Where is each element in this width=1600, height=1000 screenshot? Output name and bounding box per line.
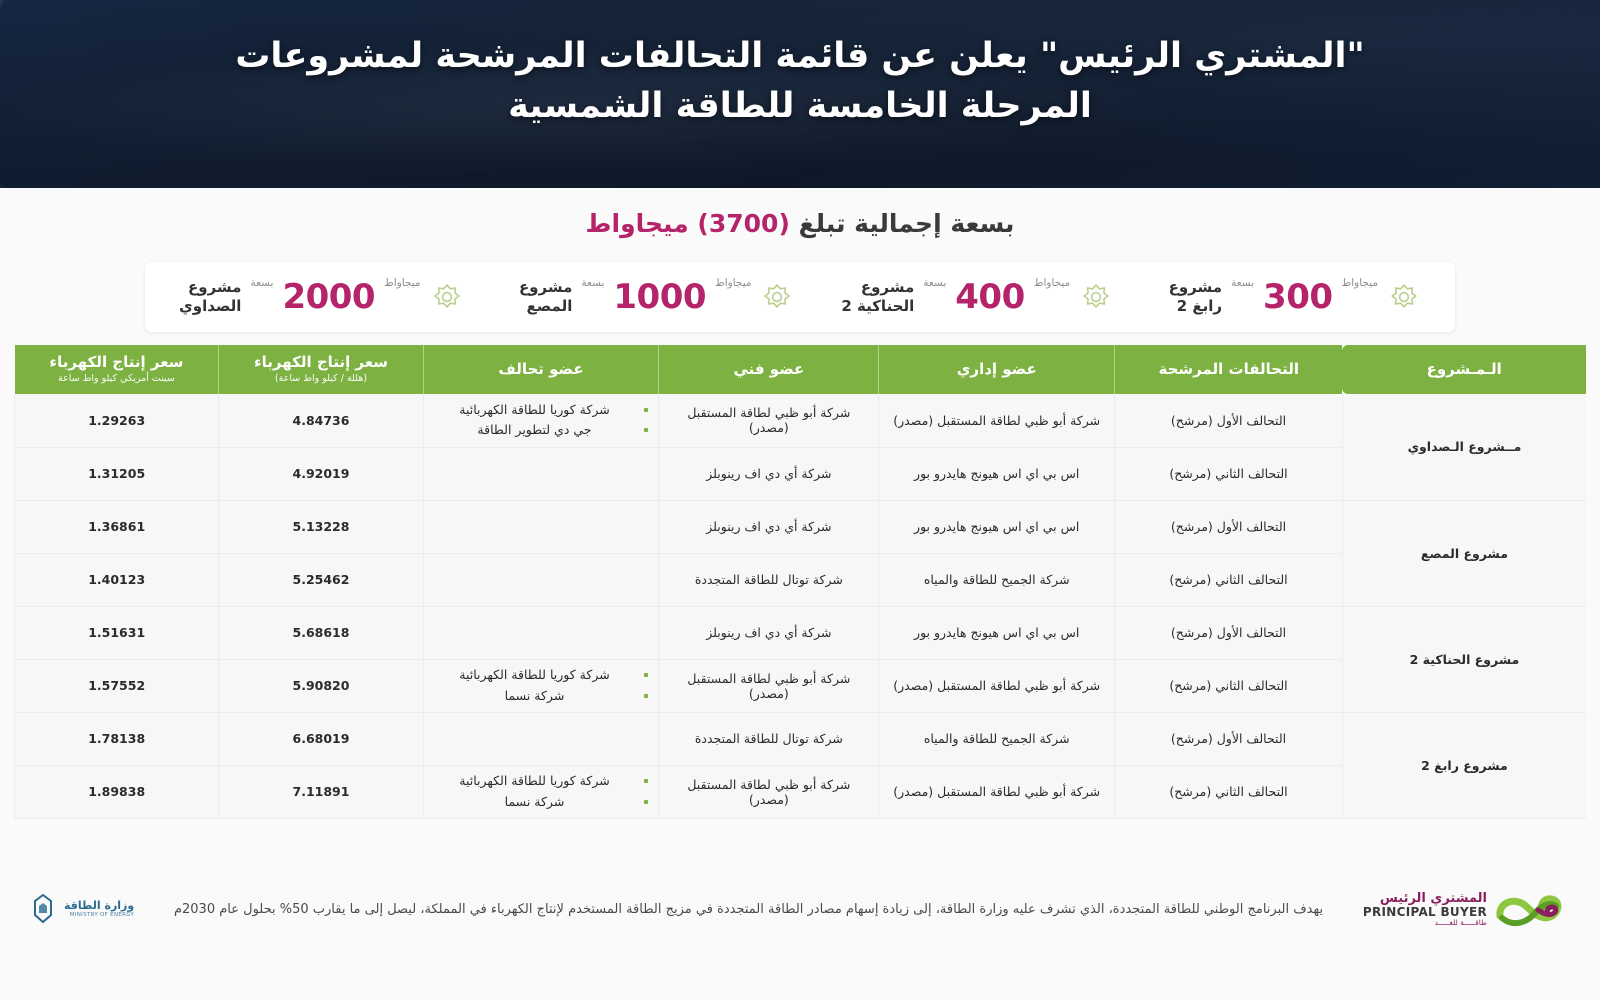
col-header-project: الـمـشروع xyxy=(1342,345,1586,394)
ministry-emblem-icon xyxy=(28,893,58,925)
pb-tagline: طاقـــــة للغـــــد xyxy=(1363,919,1487,927)
cell-price_usc: 1.29263 xyxy=(15,394,219,447)
capacity-value: 1000 xyxy=(613,280,706,314)
capacity-prefix: بسعة xyxy=(1231,278,1254,289)
cell-alliance: التحالف الأول (مرشح) xyxy=(1115,712,1343,765)
subtitle-area: بسعة إجمالية تبلغ (3700) ميجاواط xyxy=(0,188,1600,248)
capacity-unit: ميجاواط xyxy=(1034,278,1070,289)
cell-price_usc: 1.57552 xyxy=(15,659,219,712)
col-header-admin: عضو إداري xyxy=(879,345,1115,394)
cell-price_usc: 1.40123 xyxy=(15,553,219,606)
pb-arabic-name: المشتري الرئيس xyxy=(1363,892,1487,906)
cell-members: شركة كوريا للطاقة الكهربائيةشركة نسما xyxy=(423,659,659,712)
capacity-cards-bar: ميجاواط 300 بسعة مشروع رابغ 2 ميجاواط 40… xyxy=(145,262,1455,332)
capacity-project-name: مشروع رابغ 2 xyxy=(1160,278,1222,316)
cell-tech: شركة توتال للطاقة المتجددة xyxy=(659,712,879,765)
cell-price_usc: 1.78138 xyxy=(15,712,219,765)
project-name-cell: مــشروع الـصداوي xyxy=(1342,394,1586,500)
cell-admin: شركة الجميح للطاقة والمياه xyxy=(879,553,1115,606)
capacity-unit-labels: ميجاواط xyxy=(1342,277,1378,317)
cell-members xyxy=(423,500,659,553)
cell-alliance: التحالف الأول (مرشح) xyxy=(1115,394,1343,447)
cell-alliance: التحالف الأول (مرشح) xyxy=(1115,500,1343,553)
table-header-row: الـمـشروعالتحالفات المرشحةعضو إداريعضو ف… xyxy=(15,345,1587,394)
project-name-cell: مشروع المصع xyxy=(1342,500,1586,606)
capacity-number-group: 2000 xyxy=(282,280,375,314)
cell-members xyxy=(423,712,659,765)
col-title: عضو تحالف xyxy=(498,360,583,378)
capacity-prefix-label: بسعة xyxy=(250,277,273,317)
principal-buyer-mark-icon xyxy=(1494,886,1572,932)
col-header-price_hal: سعر إنتاج الكهرباء(هللة / كيلو واط ساعة) xyxy=(219,345,423,394)
sun-flower-icon xyxy=(430,280,464,314)
capacity-value: 400 xyxy=(955,280,1024,314)
capacity-prefix-label: بسعة xyxy=(581,277,604,317)
cell-tech: شركة أي دي اف رينوبلز xyxy=(659,500,879,553)
cell-members: شركة كوريا للطاقة الكهربائيةجي دي لتطوير… xyxy=(423,394,659,447)
cell-members xyxy=(423,447,659,500)
cell-price_hal: 7.11891 xyxy=(219,765,423,818)
project-name-cell: مشروع الحناكية 2 xyxy=(1342,606,1586,712)
capacity-prefix-label: بسعة xyxy=(923,277,946,317)
footer-description: يهدف البرنامج الوطني للطاقة المتجددة، ال… xyxy=(134,900,1363,920)
member-item: شركة نسما xyxy=(432,686,651,707)
footer: المشتري الرئيس PRINCIPAL BUYER طاقـــــة… xyxy=(0,819,1600,1000)
capacity-unit: ميجاواط xyxy=(384,278,420,289)
capacity-card-2: ميجاواط 400 بسعة مشروع الحناكية 2 xyxy=(841,262,1113,332)
member-item: شركة كوريا للطاقة الكهربائية xyxy=(432,771,651,792)
member-list: شركة كوريا للطاقة الكهربائيةجي دي لتطوير… xyxy=(432,400,651,441)
infographic-page: "المشتري الرئيس" يعلن عن قائمة التحالفات… xyxy=(0,0,1600,1000)
table-row: مشروع الحناكية 2التحالف الأول (مرشح)اس ب… xyxy=(15,606,1587,659)
moe-text: وزارة الطاقة MINISTRY OF ENERGY xyxy=(64,900,134,918)
cell-price_usc: 1.36861 xyxy=(15,500,219,553)
cell-members: شركة كوريا للطاقة الكهربائيةشركة نسما xyxy=(423,765,659,818)
member-item: شركة نسما xyxy=(432,792,651,813)
capacity-prefix-label: بسعة xyxy=(1231,277,1254,317)
cell-price_usc: 1.89838 xyxy=(15,765,219,818)
page-title: "المشتري الرئيس" يعلن عن قائمة التحالفات… xyxy=(0,0,1600,131)
capacity-unit: ميجاواط xyxy=(1342,278,1378,289)
table-row: مشروع رابغ 2التحالف الأول (مرشح)شركة الج… xyxy=(15,712,1587,765)
sun-flower-icon xyxy=(1387,280,1421,314)
project-name-cell: مشروع رابغ 2 xyxy=(1342,712,1586,818)
cell-alliance: التحالف الثاني (مرشح) xyxy=(1115,447,1343,500)
cell-price_usc: 1.51631 xyxy=(15,606,219,659)
cell-tech: شركة أي دي اف رينوبلز xyxy=(659,606,879,659)
cell-price_hal: 5.25462 xyxy=(219,553,423,606)
col-title: سعر إنتاج الكهرباء xyxy=(49,353,183,371)
col-header-tech: عضو فني xyxy=(659,345,879,394)
capacity-card-4: ميجاواط 2000 بسعة مشروع الصداوي xyxy=(179,262,464,332)
sun-flower-icon xyxy=(760,280,794,314)
member-list: شركة كوريا للطاقة الكهربائيةشركة نسما xyxy=(432,665,651,706)
cell-admin: اس بي اي اس هيونج هايدرو بور xyxy=(879,447,1115,500)
capacity-number-group: 400 xyxy=(955,280,1024,314)
projects-table-wrapper: الـمـشروعالتحالفات المرشحةعضو إداريعضو ف… xyxy=(14,345,1586,819)
col-title: سعر إنتاج الكهرباء xyxy=(254,353,388,371)
principal-buyer-logo: المشتري الرئيس PRINCIPAL BUYER طاقـــــة… xyxy=(1363,886,1572,932)
member-item: جي دي لتطوير الطاقة xyxy=(432,420,651,441)
sun-flower-icon xyxy=(1079,280,1113,314)
col-header-alliance: التحالفات المرشحة xyxy=(1115,345,1343,394)
col-title: عضو إداري xyxy=(957,360,1037,378)
cell-admin: اس بي اي اس هيونج هايدرو بور xyxy=(879,606,1115,659)
cell-price_hal: 4.84736 xyxy=(219,394,423,447)
member-item: شركة كوريا للطاقة الكهربائية xyxy=(432,665,651,686)
capacity-prefix: بسعة xyxy=(250,278,273,289)
col-subtitle: (هللة / كيلو واط ساعة) xyxy=(225,374,416,385)
cell-price_hal: 4.92019 xyxy=(219,447,423,500)
table-row: مشروع المصعالتحالف الأول (مرشح)اس بي اي … xyxy=(15,500,1587,553)
table-head: الـمـشروعالتحالفات المرشحةعضو إداريعضو ف… xyxy=(15,345,1587,394)
hero-banner: "المشتري الرئيس" يعلن عن قائمة التحالفات… xyxy=(0,0,1600,188)
pb-english-name: PRINCIPAL BUYER xyxy=(1363,906,1487,919)
capacity-prefix: بسعة xyxy=(581,278,604,289)
cell-price_hal: 6.68019 xyxy=(219,712,423,765)
capacity-unit-labels: ميجاواط xyxy=(1034,277,1070,317)
total-capacity-subtitle: بسعة إجمالية تبلغ (3700) ميجاواط xyxy=(586,209,1015,238)
moe-box: وزارة الطاقة MINISTRY OF ENERGY xyxy=(28,893,134,925)
cell-tech: شركة أي دي اف رينوبلز xyxy=(659,447,879,500)
col-subtitle: سينت أمريكي كيلو واط ساعة xyxy=(21,374,213,385)
capacity-value: 2000 xyxy=(282,280,375,314)
col-title: عضو فني xyxy=(733,360,804,378)
capacity-project-name: مشروع المصع xyxy=(510,278,572,316)
member-item: شركة كوريا للطاقة الكهربائية xyxy=(432,400,651,421)
capacity-value: 300 xyxy=(1263,280,1332,314)
cell-alliance: التحالف الثاني (مرشح) xyxy=(1115,659,1343,712)
cell-alliance: التحالف الأول (مرشح) xyxy=(1115,606,1343,659)
capacity-unit-labels: ميجاواط xyxy=(384,277,420,317)
cell-price_hal: 5.90820 xyxy=(219,659,423,712)
subtitle-highlight: (3700) ميجاواط xyxy=(586,209,790,238)
cell-tech: شركة أبو ظبي لطاقة المستقبل (مصدر) xyxy=(659,765,879,818)
member-list: شركة كوريا للطاقة الكهربائيةشركة نسما xyxy=(432,771,651,812)
capacity-prefix: بسعة xyxy=(923,278,946,289)
cell-price_hal: 5.13228 xyxy=(219,500,423,553)
col-title: التحالفات المرشحة xyxy=(1158,360,1299,378)
cell-admin: شركة أبو ظبي لطاقة المستقبل (مصدر) xyxy=(879,765,1115,818)
capacity-project-name: مشروع الصداوي xyxy=(179,278,241,316)
table-body: مــشروع الـصداويالتحالف الأول (مرشح)شركة… xyxy=(15,394,1587,818)
cell-tech: شركة أبو ظبي لطاقة المستقبل (مصدر) xyxy=(659,659,879,712)
subtitle-prefix: بسعة إجمالية تبلغ xyxy=(790,209,1015,238)
cell-members xyxy=(423,606,659,659)
cell-price_usc: 1.31205 xyxy=(15,447,219,500)
moe-arabic-name: وزارة الطاقة xyxy=(64,900,134,912)
ministry-of-energy-logo: وزارة الطاقة MINISTRY OF ENERGY xyxy=(28,893,134,925)
capacity-project-name: مشروع الحناكية 2 xyxy=(841,278,914,316)
cell-tech: شركة أبو ظبي لطاقة المستقبل (مصدر) xyxy=(659,394,879,447)
table-row: مــشروع الـصداويالتحالف الأول (مرشح)شركة… xyxy=(15,394,1587,447)
cell-price_hal: 5.68618 xyxy=(219,606,423,659)
cell-alliance: التحالف الثاني (مرشح) xyxy=(1115,553,1343,606)
principal-buyer-text: المشتري الرئيس PRINCIPAL BUYER طاقـــــة… xyxy=(1363,892,1487,927)
col-header-members: عضو تحالف xyxy=(423,345,659,394)
cell-admin: شركة أبو ظبي لطاقة المستقبل (مصدر) xyxy=(879,659,1115,712)
capacity-card-3: ميجاواط 1000 بسعة مشروع المصع xyxy=(510,262,794,332)
cell-members xyxy=(423,553,659,606)
capacity-unit: ميجاواط xyxy=(715,278,751,289)
capacity-unit-labels: ميجاواط xyxy=(715,277,751,317)
projects-table: الـمـشروعالتحالفات المرشحةعضو إداريعضو ف… xyxy=(14,345,1586,819)
cell-admin: اس بي اي اس هيونج هايدرو بور xyxy=(879,500,1115,553)
capacity-number-group: 1000 xyxy=(613,280,706,314)
cell-admin: شركة الجميح للطاقة والمياه xyxy=(879,712,1115,765)
col-title: الـمـشروع xyxy=(1427,360,1502,378)
capacity-number-group: 300 xyxy=(1263,280,1332,314)
capacity-card-1: ميجاواط 300 بسعة مشروع رابغ 2 xyxy=(1160,262,1421,332)
cell-alliance: التحالف الثاني (مرشح) xyxy=(1115,765,1343,818)
cell-admin: شركة أبو ظبي لطاقة المستقبل (مصدر) xyxy=(879,394,1115,447)
cell-tech: شركة توتال للطاقة المتجددة xyxy=(659,553,879,606)
moe-english-name: MINISTRY OF ENERGY xyxy=(64,912,134,918)
col-header-price_usc: سعر إنتاج الكهرباءسينت أمريكي كيلو واط س… xyxy=(15,345,219,394)
